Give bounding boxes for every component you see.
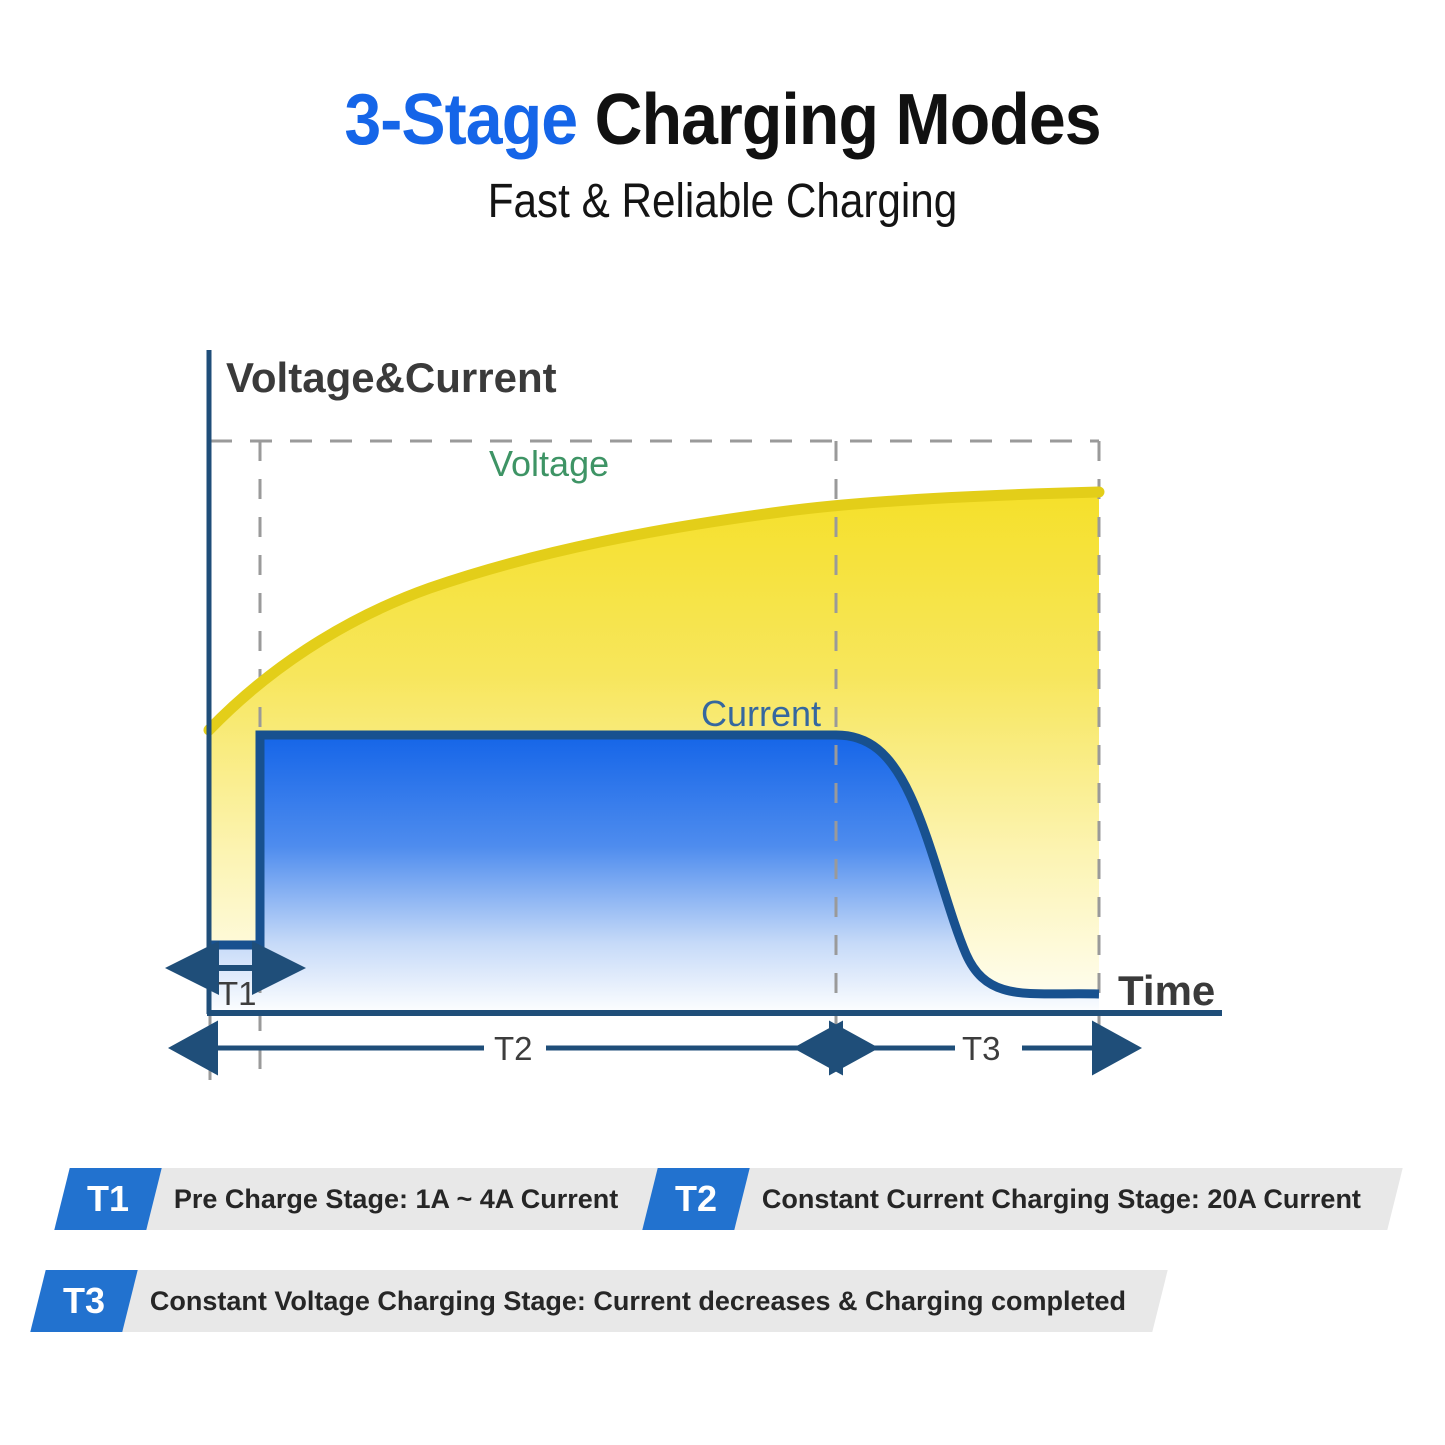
chart-svg: Voltage&Current Time Voltage Current T1 … (0, 320, 1445, 1110)
legend-desc-t1: Pre Charge Stage: 1A ~ 4A Current (132, 1168, 660, 1230)
legend-item-t2[interactable]: T2 Constant Current Charging Stage: 20A … (650, 1168, 1395, 1230)
legend-row-2: T3 Constant Voltage Charging Stage: Curr… (0, 1270, 1445, 1332)
t3-tick-label: T3 (962, 1030, 1001, 1067)
legend-desc-t3: Constant Voltage Charging Stage: Current… (108, 1270, 1168, 1332)
stage-legend: T1 Pre Charge Stage: 1A ~ 4A Current T2 … (0, 1140, 1445, 1400)
page-title-rest: Charging Modes (577, 80, 1100, 160)
legend-tag-label-t3: T3 (63, 1280, 105, 1322)
header: 3-Stage Charging Modes Fast & Reliable C… (0, 0, 1445, 226)
legend-desc-label-t1: Pre Charge Stage: 1A ~ 4A Current (140, 1184, 652, 1215)
page-title-accent: 3-Stage (344, 80, 577, 160)
legend-desc-label-t3: Constant Voltage Charging Stage: Current… (116, 1286, 1160, 1317)
legend-desc-t2: Constant Current Charging Stage: 20A Cur… (720, 1168, 1403, 1230)
voltage-series-label: Voltage (489, 443, 609, 484)
legend-item-t1[interactable]: T1 Pre Charge Stage: 1A ~ 4A Current (62, 1168, 652, 1230)
page-title: 3-Stage Charging Modes (58, 0, 1387, 156)
legend-item-t3[interactable]: T3 Constant Voltage Charging Stage: Curr… (38, 1270, 1160, 1332)
page-subtitle: Fast & Reliable Charging (87, 156, 1359, 226)
legend-tag-t1: T1 (54, 1168, 161, 1230)
legend-desc-label-t2: Constant Current Charging Stage: 20A Cur… (728, 1184, 1395, 1215)
legend-tag-label-t1: T1 (87, 1178, 129, 1220)
legend-tag-t2: T2 (642, 1168, 749, 1230)
legend-row-1: T1 Pre Charge Stage: 1A ~ 4A Current T2 … (0, 1168, 1445, 1230)
x-axis-title: Time (1118, 967, 1215, 1014)
legend-tag-t3: T3 (30, 1270, 137, 1332)
current-series-label: Current (701, 693, 821, 734)
charging-curve-chart: Voltage&Current Time Voltage Current T1 … (0, 320, 1445, 1110)
y-axis-title: Voltage&Current (226, 354, 557, 401)
t1-tick-label: T1 (218, 975, 257, 1012)
t2-tick-label: T2 (494, 1030, 533, 1067)
legend-tag-label-t2: T2 (675, 1178, 717, 1220)
